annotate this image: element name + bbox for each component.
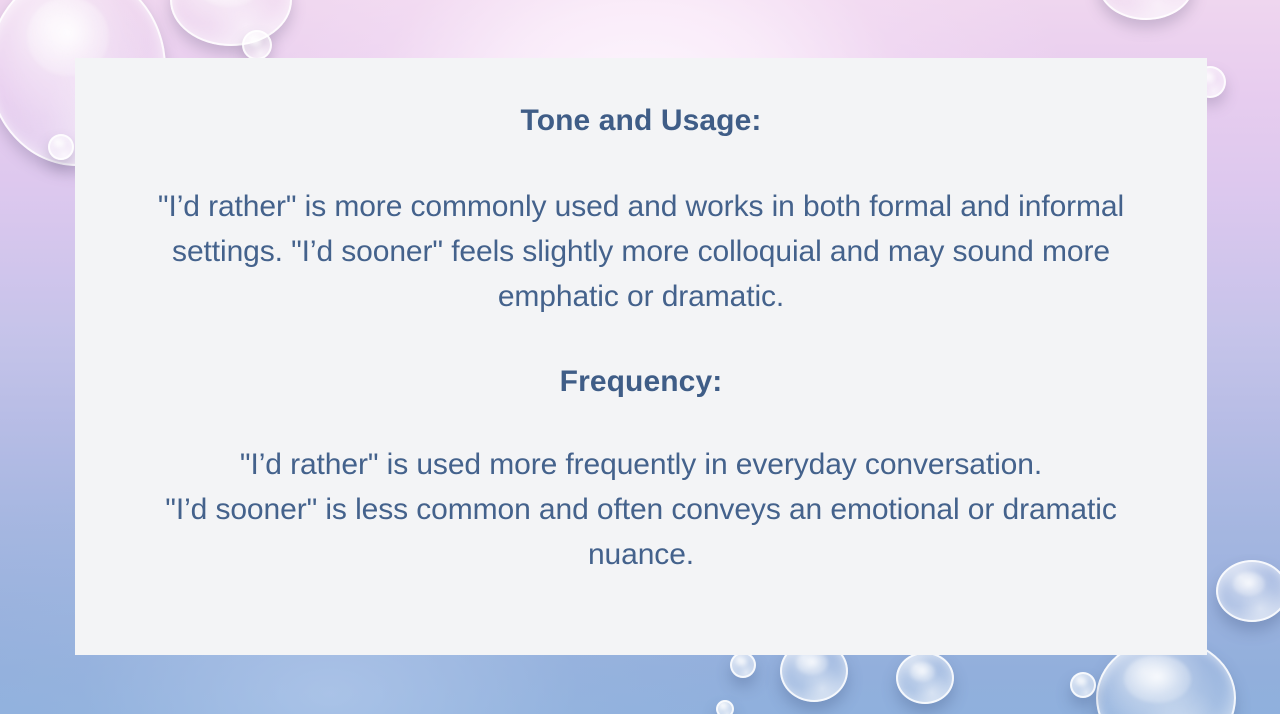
spacer	[115, 400, 1167, 442]
spacer	[115, 319, 1167, 363]
section-heading-frequency: Frequency:	[115, 363, 1167, 401]
content-card: Tone and Usage: "I’d rather" is more com…	[75, 58, 1207, 655]
section-paragraph-tone-and-usage: "I’d rather" is more commonly used and w…	[115, 184, 1167, 319]
spacer	[115, 140, 1167, 184]
slide-canvas: Tone and Usage: "I’d rather" is more com…	[0, 0, 1280, 714]
section-heading-tone-and-usage: Tone and Usage:	[115, 102, 1167, 140]
section-line-frequency-rather: "I’d rather" is used more frequently in …	[115, 442, 1167, 487]
section-line-frequency-sooner: "I’d sooner" is less common and often co…	[115, 487, 1167, 577]
